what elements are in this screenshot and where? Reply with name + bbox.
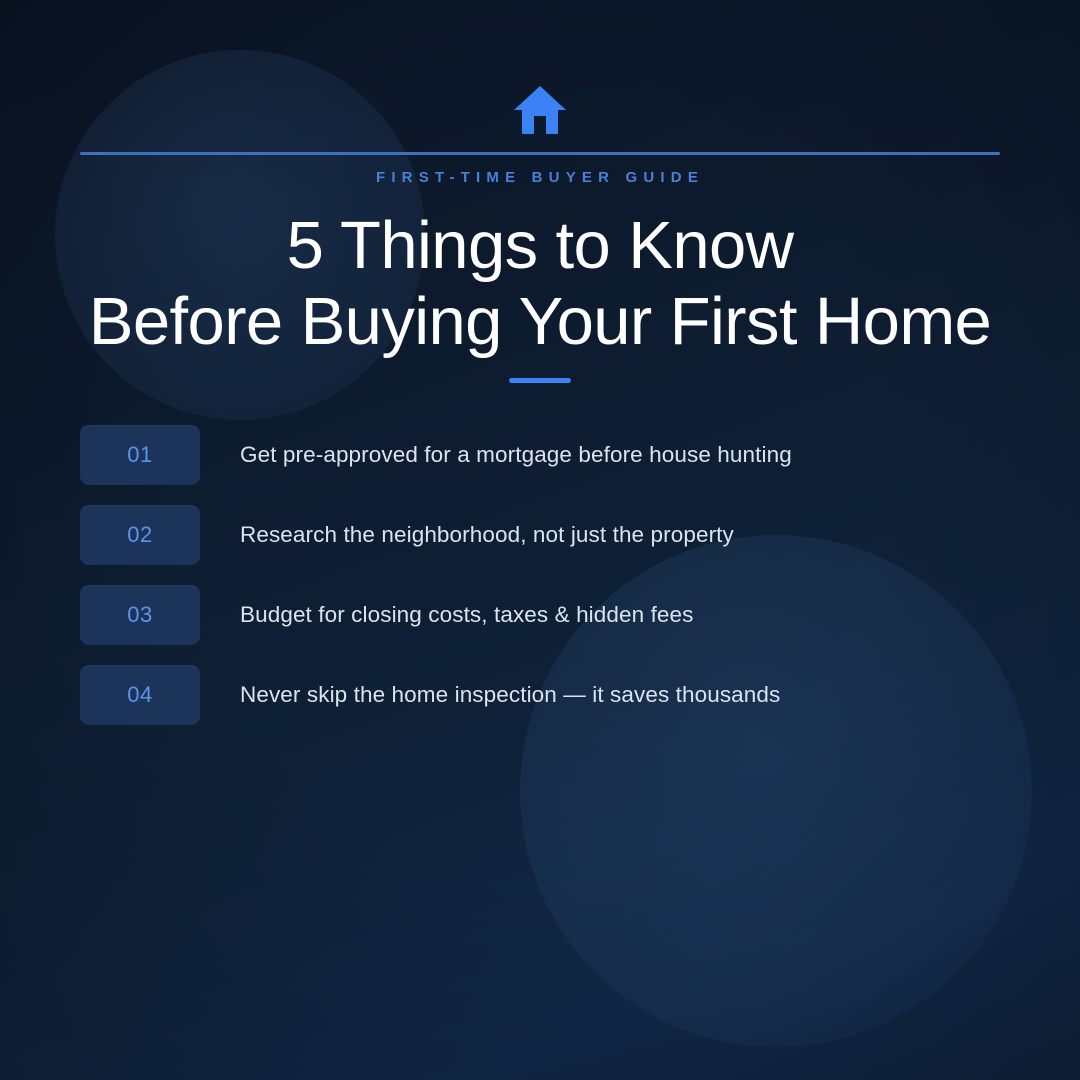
tip-text: Research the neighborhood, not just the … [240, 522, 734, 548]
tip-number-chip: 04 [80, 665, 200, 725]
page-title-line-1: 5 Things to Know [0, 208, 1080, 284]
list-item: 04 Never skip the home inspection — it s… [80, 665, 1000, 725]
poster-canvas: FIRST-TIME BUYER GUIDE 5 Things to Know … [0, 0, 1080, 1080]
tip-text: Never skip the home inspection — it save… [240, 682, 780, 708]
list-item: 01 Get pre-approved for a mortgage befor… [80, 425, 1000, 485]
page-title-line-2: Before Buying Your First Home [0, 284, 1080, 360]
poster-content: FIRST-TIME BUYER GUIDE 5 Things to Know … [0, 0, 1080, 1080]
list-item: 02 Research the neighborhood, not just t… [80, 505, 1000, 565]
header-icon-wrapper [0, 84, 1080, 136]
tip-number-chip: 03 [80, 585, 200, 645]
list-item: 03 Budget for closing costs, taxes & hid… [80, 585, 1000, 645]
header-divider-rule [80, 152, 1000, 155]
tip-number-chip: 02 [80, 505, 200, 565]
tip-text: Budget for closing costs, taxes & hidden… [240, 602, 694, 628]
tip-number-chip: 01 [80, 425, 200, 485]
tip-text: Get pre-approved for a mortgage before h… [240, 442, 792, 468]
eyebrow-label: FIRST-TIME BUYER GUIDE [0, 169, 1080, 186]
tips-list: 01 Get pre-approved for a mortgage befor… [80, 425, 1000, 725]
title-accent-bar [509, 378, 571, 383]
home-icon [512, 84, 568, 136]
page-title: 5 Things to Know Before Buying Your Firs… [0, 208, 1080, 360]
